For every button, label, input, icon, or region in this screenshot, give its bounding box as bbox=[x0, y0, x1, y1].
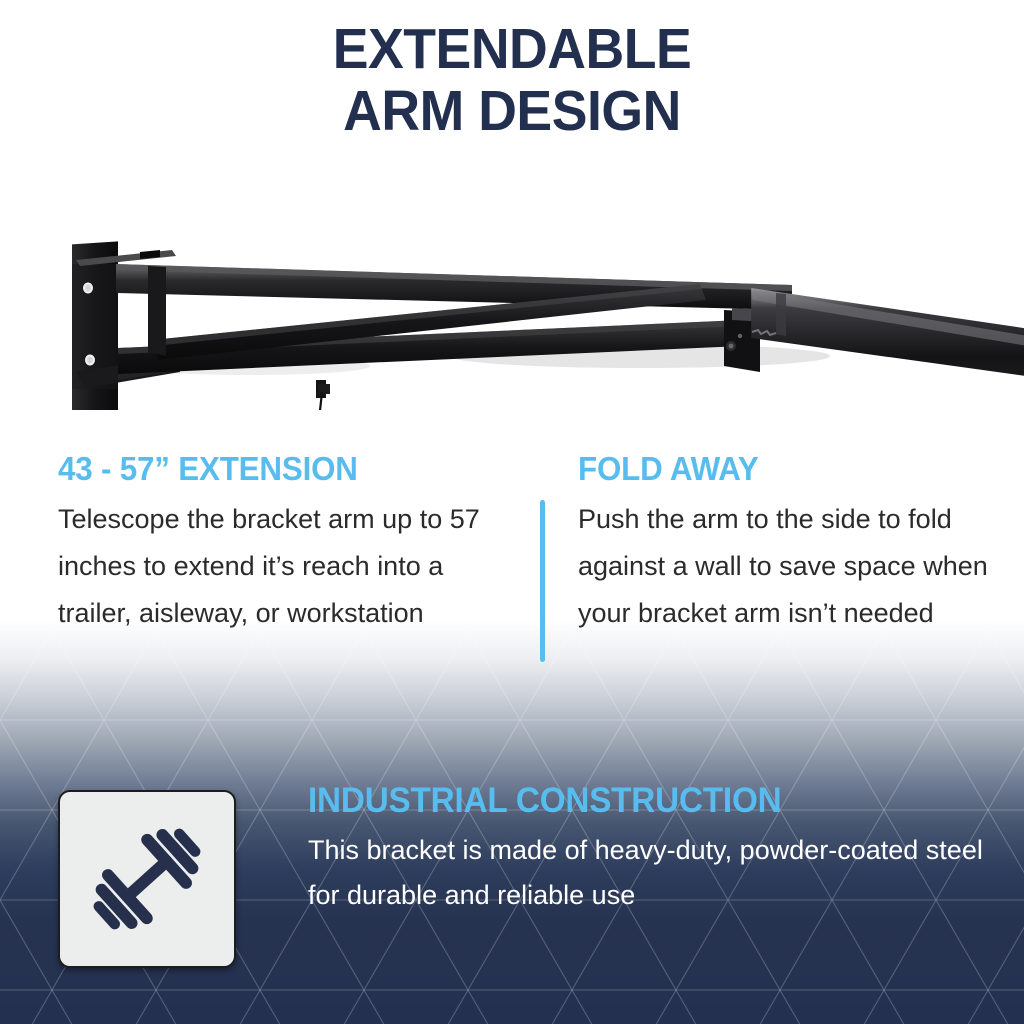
hero-latch bbox=[316, 380, 330, 398]
feature-fold-away: FOLD AWAY Push the arm to the side to fo… bbox=[578, 450, 998, 637]
industrial-construction-icon-tile bbox=[58, 790, 236, 968]
feature-industrial-construction: INDUSTRIAL CONSTRUCTION This bracket is … bbox=[308, 780, 1008, 918]
feature-industrial-construction-heading: INDUSTRIAL CONSTRUCTION bbox=[308, 780, 973, 822]
page-title: EXTENDABLE ARM DESIGN bbox=[31, 18, 994, 142]
dumbbell-icon bbox=[81, 813, 213, 945]
feature-extension-body: Telescope the bracket arm up to 57 inche… bbox=[58, 496, 498, 637]
page-title-line-1: EXTENDABLE bbox=[31, 18, 994, 80]
feature-extension-heading: 43 - 57” EXTENSION bbox=[58, 450, 476, 488]
product-hero-image bbox=[0, 160, 1024, 410]
column-divider bbox=[540, 500, 545, 662]
page-title-line-2: ARM DESIGN bbox=[31, 80, 994, 142]
feature-extension: 43 - 57” EXTENSION Telescope the bracket… bbox=[58, 450, 498, 637]
infographic-page: EXTENDABLE ARM DESIGN bbox=[0, 0, 1024, 1024]
feature-industrial-construction-body: This bracket is made of heavy-duty, powd… bbox=[308, 828, 1008, 918]
hero-telescoping-tube bbox=[751, 288, 1024, 402]
feature-fold-away-heading: FOLD AWAY bbox=[578, 450, 977, 488]
feature-fold-away-body: Push the arm to the side to fold against… bbox=[578, 496, 998, 637]
